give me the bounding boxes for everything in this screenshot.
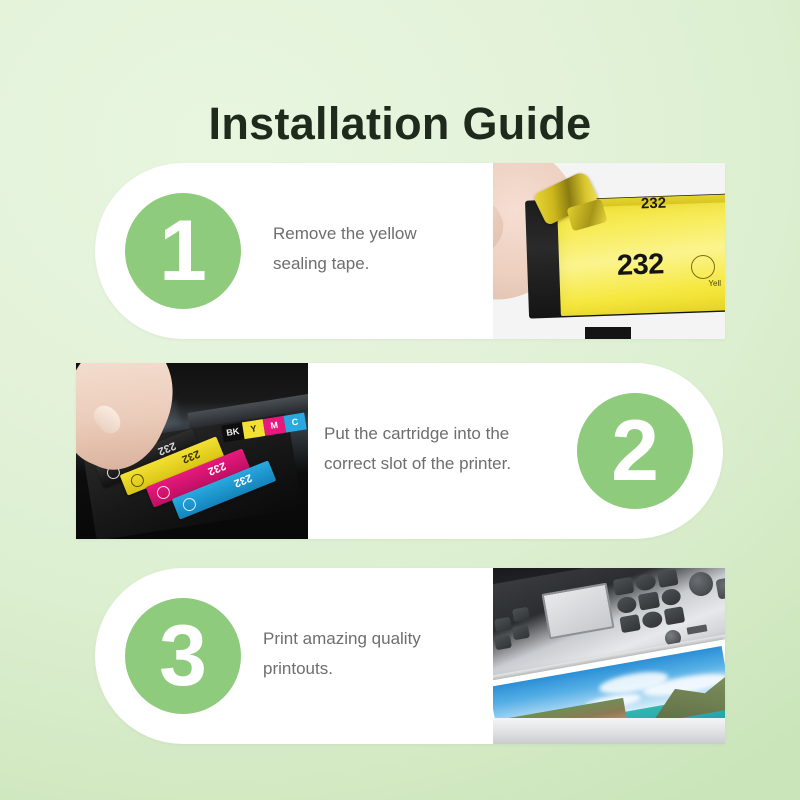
step-card-1: 1 Remove the yellow sealing tape. 232 23… <box>95 163 725 339</box>
printer-keypad <box>613 569 685 633</box>
installation-guide-page: Installation Guide 1 Remove the yellow s… <box>0 0 800 800</box>
cartridge-number-yellow: 232 <box>180 447 202 465</box>
cartridge-foot <box>585 327 631 339</box>
keypad-key <box>613 577 635 596</box>
step-card-3: 3 Print amazing quality printouts. <box>95 568 725 744</box>
step-number-badge-2: 2 <box>577 393 693 509</box>
slot-tab-y: Y <box>242 419 265 439</box>
function-button <box>494 617 512 633</box>
step-number-2: 2 <box>611 408 659 494</box>
ink-drop-icon <box>129 472 146 489</box>
step-text-3: Print amazing quality printouts. <box>263 624 508 684</box>
keypad-key <box>641 610 663 629</box>
cartridge-model-large: 232 <box>616 248 664 283</box>
cartridge-number-cyan: 232 <box>232 471 254 489</box>
cartridge-color-name: Yell <box>708 279 721 288</box>
function-button <box>512 625 530 641</box>
step-image-1: 232 232 Yell <box>493 163 725 339</box>
step-number-badge-1: 1 <box>125 193 241 309</box>
keypad-key <box>638 591 660 610</box>
step-number-3: 3 <box>159 613 207 699</box>
slot-tab-bk: BK <box>221 422 244 442</box>
ink-drop-icon <box>181 496 198 513</box>
keypad-key <box>635 573 657 592</box>
step-text-1: Remove the yellow sealing tape. <box>273 219 513 279</box>
printer-base-edge <box>493 718 725 744</box>
step-card-2: BK Y M C 232 232 232 232 <box>76 363 723 539</box>
step-number-badge-3: 3 <box>125 598 241 714</box>
keypad-key <box>657 569 679 588</box>
fingernail-shape <box>89 401 125 438</box>
step-image-3 <box>493 568 725 744</box>
slot-tab-m: M <box>263 416 286 436</box>
cartridge-number-magenta: 232 <box>206 459 228 477</box>
step-image-2: BK Y M C 232 232 232 232 <box>76 363 308 539</box>
function-button <box>512 607 530 623</box>
page-title: Installation Guide <box>0 98 800 150</box>
ink-drop-icon <box>155 484 172 501</box>
ink-drop-icon <box>691 255 715 279</box>
step-number-1: 1 <box>159 208 207 294</box>
step-text-2: Put the cartridge into the correct slot … <box>324 419 574 479</box>
keypad-key <box>663 606 685 625</box>
keypad-key <box>616 595 638 614</box>
keypad-key <box>660 588 682 607</box>
cartridge-model-small: 232 <box>641 195 667 213</box>
keypad-key <box>619 614 641 633</box>
thumb-shape <box>493 189 513 275</box>
function-button <box>494 635 512 651</box>
slot-tab-c: C <box>283 413 306 433</box>
